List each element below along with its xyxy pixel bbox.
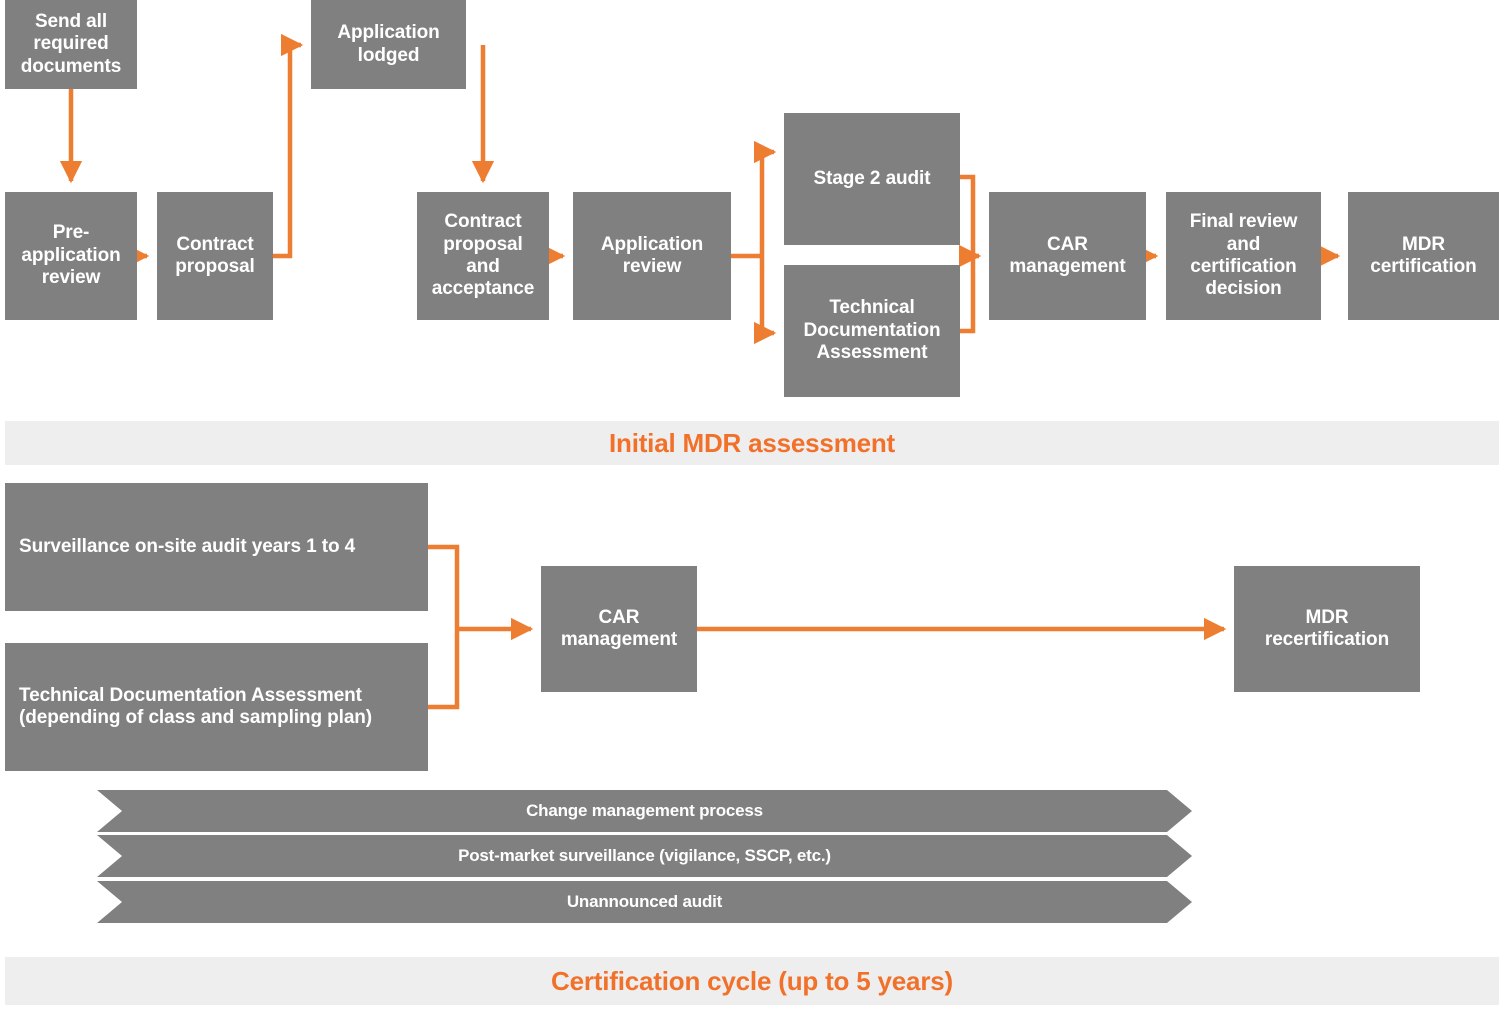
node-final-review-and-certification-decision[interactable]: Final review and certification decision	[1166, 192, 1321, 320]
node-application-review[interactable]: Application review	[573, 192, 731, 320]
chevron-unannounced-audit[interactable]: Unannounced audit	[97, 881, 1192, 923]
node-contract-proposal-and-acceptance[interactable]: Contract proposal and acceptance	[417, 192, 549, 320]
node-mdr-recertification[interactable]: MDR recertification	[1234, 566, 1420, 692]
node-car-management-cycle[interactable]: CAR management	[541, 566, 697, 692]
node-car-management-initial[interactable]: CAR management	[989, 192, 1146, 320]
connector-application-review-to-technical-documentation	[762, 256, 774, 333]
chevron-change-management-process[interactable]: Change management process	[97, 790, 1192, 832]
node-technical-documentation-assessment-cycle[interactable]: Technical Documentation Assessment (depe…	[5, 643, 428, 771]
node-stage-2-audit[interactable]: Stage 2 audit	[784, 113, 960, 245]
band-certification-cycle: Certification cycle (up to 5 years)	[5, 957, 1499, 1005]
connector-surveillance-to-junction	[428, 547, 457, 629]
band-certification-cycle-label: Certification cycle (up to 5 years)	[551, 966, 953, 997]
node-pre-application-review[interactable]: Pre- application review	[5, 192, 137, 320]
node-mdr-certification[interactable]: MDR certification	[1348, 192, 1499, 320]
node-send-all-required-documents[interactable]: Send all required documents	[5, 0, 137, 89]
node-surveillance-on-site-audit[interactable]: Surveillance on-site audit years 1 to 4	[5, 483, 428, 611]
process-flow-diagram: Send all required documents Application …	[0, 0, 1504, 1010]
chevron-change-management-process-label: Change management process	[97, 790, 1192, 832]
chevron-post-market-surveillance[interactable]: Post-market surveillance (vigilance, SSC…	[97, 835, 1192, 877]
chevron-unannounced-audit-label: Unannounced audit	[97, 881, 1192, 923]
chevron-post-market-surveillance-label: Post-market surveillance (vigilance, SSC…	[97, 835, 1192, 877]
connector-technical-documentation-cycle-to-junction	[428, 629, 457, 707]
connector-technical-documentation-to-car-management	[960, 256, 973, 331]
band-initial-mdr-assessment-label: Initial MDR assessment	[609, 428, 895, 459]
band-initial-mdr-assessment: Initial MDR assessment	[5, 421, 1499, 465]
node-application-lodged[interactable]: Application lodged	[311, 0, 466, 89]
node-technical-documentation-assessment[interactable]: Technical Documentation Assessment	[784, 265, 960, 397]
connector-stage-2-audit-to-car-management	[960, 177, 979, 256]
node-contract-proposal[interactable]: Contract proposal	[157, 192, 273, 320]
connector-contract-proposal-to-application-lodged	[273, 45, 301, 256]
connector-application-review-to-stage-2-audit	[762, 152, 774, 256]
